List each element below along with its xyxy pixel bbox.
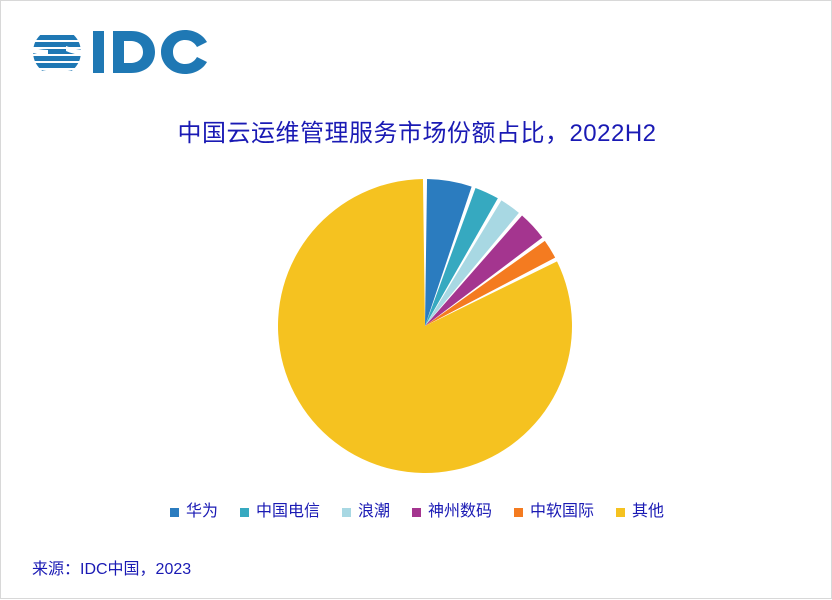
legend-swatch-icon — [616, 508, 625, 517]
idc-wordmark — [91, 27, 209, 77]
legend-item-label: 神州数码 — [428, 504, 492, 520]
legend-swatch-icon — [170, 508, 179, 517]
pie-slice[interactable] — [425, 241, 555, 326]
legend-swatch-icon — [240, 508, 249, 517]
legend-item[interactable]: 中软国际 — [514, 504, 594, 520]
pie-slice-group — [278, 179, 572, 473]
legend-item[interactable]: 华为 — [170, 504, 218, 520]
legend-item[interactable]: 浪潮 — [342, 504, 390, 520]
pie-chart-svg — [269, 169, 583, 483]
pie-slice[interactable] — [425, 188, 498, 326]
chart-legend: 华为中国电信浪潮神州数码中软国际其他 — [1, 504, 832, 520]
source-note: 来源：IDC中国，2023 — [32, 555, 191, 579]
legend-item-label: 华为 — [186, 504, 218, 520]
legend-item-label: 浪潮 — [358, 504, 390, 520]
legend-item[interactable]: 中国电信 — [240, 504, 320, 520]
legend-item-label: 中软国际 — [530, 504, 594, 520]
legend-item-label: 其他 — [632, 504, 664, 520]
legend-swatch-icon — [514, 508, 523, 517]
legend-swatch-icon — [342, 508, 351, 517]
legend-item[interactable]: 其他 — [616, 504, 664, 520]
page-title: 中国云运维管理服务市场份额占比，2022H2 — [1, 113, 832, 148]
idc-logo — [29, 23, 209, 81]
legend-item[interactable]: 神州数码 — [412, 504, 492, 520]
legend-swatch-icon — [412, 508, 421, 517]
pie-slice[interactable] — [425, 200, 519, 326]
globe-icon — [29, 24, 85, 80]
pie-slice[interactable] — [425, 179, 472, 326]
pie-slice[interactable] — [278, 179, 572, 473]
slide-canvas: 中国云运维管理服务市场份额占比，2022H2 华为中国电信浪潮神州数码中软国际其… — [0, 0, 832, 599]
legend-item-label: 中国电信 — [256, 504, 320, 520]
pie-slice[interactable] — [425, 216, 542, 326]
